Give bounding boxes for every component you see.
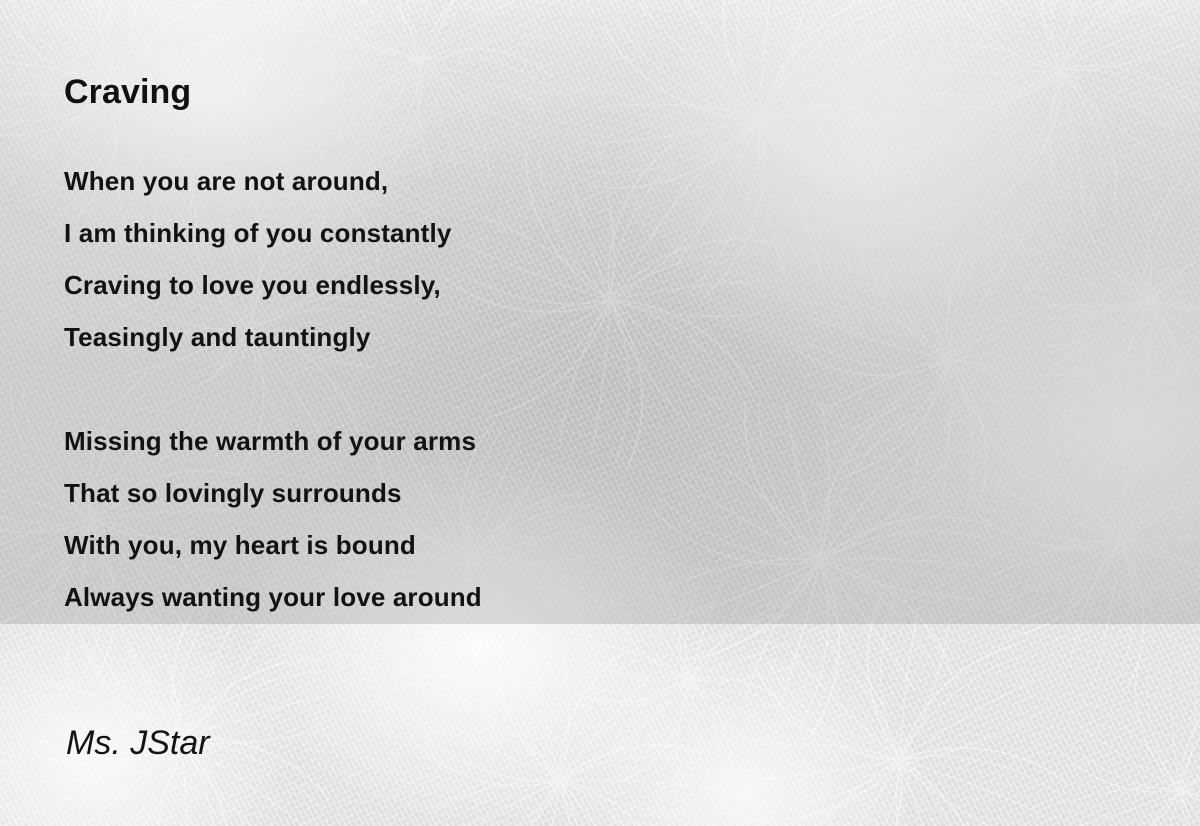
poem-line: That so lovingly surrounds bbox=[64, 467, 1064, 519]
poem-line: Always wanting your love around bbox=[64, 571, 1064, 623]
poem-stanza: When you are not around, I am thinking o… bbox=[64, 155, 1064, 363]
poem-stanza: Missing the warmth of your arms That so … bbox=[64, 415, 1064, 623]
poem-line: Teasingly and tauntingly bbox=[64, 311, 1064, 363]
poem-body: When you are not around, I am thinking o… bbox=[64, 155, 1064, 623]
poem-line: With you, my heart is bound bbox=[64, 519, 1064, 571]
poem-line: I am thinking of you constantly bbox=[64, 207, 1064, 259]
page-title: Craving bbox=[64, 73, 191, 112]
poem-line: Craving to love you endlessly, bbox=[64, 259, 1064, 311]
poem-line: Missing the warmth of your arms bbox=[64, 415, 1064, 467]
poem-line: When you are not around, bbox=[64, 155, 1064, 207]
poem-author-signature: Ms. JStar bbox=[66, 724, 210, 763]
poem-image-card: Craving When you are not around, I am th… bbox=[0, 0, 1200, 826]
